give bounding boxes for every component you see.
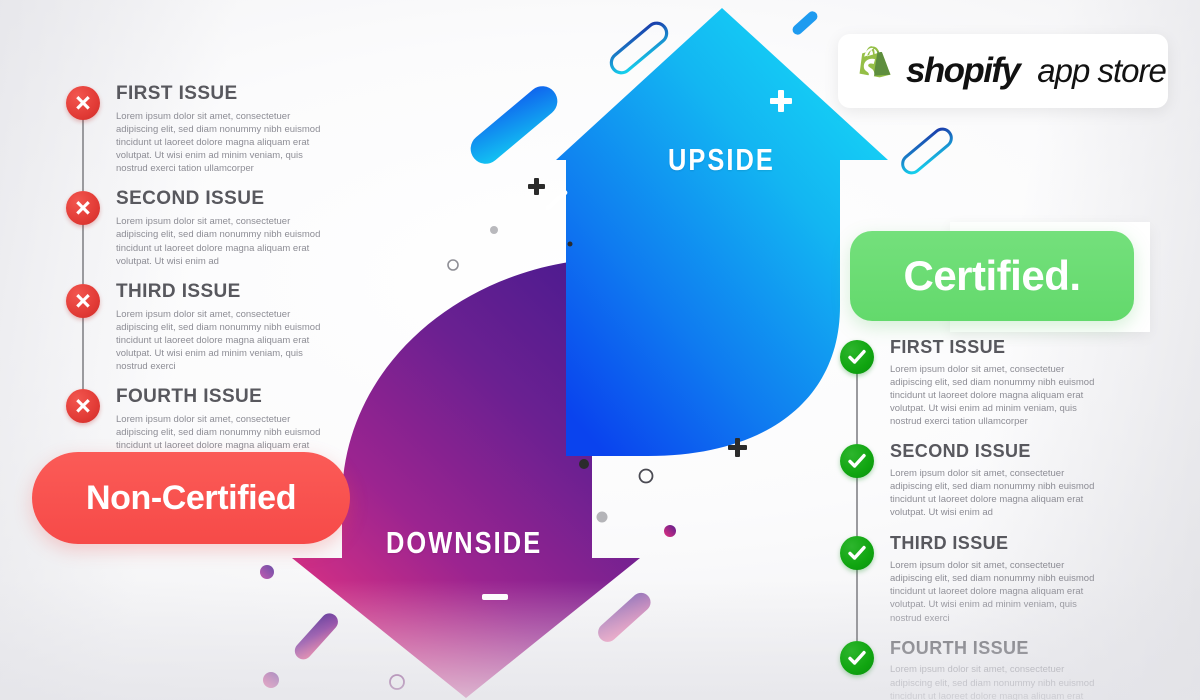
list-item[interactable]: THIRD ISSUE Lorem ipsum dolor sit amet, …	[66, 282, 366, 373]
shopify-wordmark: shopify	[906, 51, 1019, 91]
item-body: Lorem ipsum dolor sit amet, consectetuer…	[116, 215, 334, 267]
item-title: FIRST ISSUE	[890, 338, 1110, 358]
list-item[interactable]: SECOND ISSUE Lorem ipsum dolor sit amet,…	[840, 442, 1110, 520]
deco-dot-black-1	[568, 242, 573, 247]
minus-sign-icon	[482, 594, 508, 600]
shopify-bag-icon	[852, 46, 896, 96]
list-connector-line	[856, 368, 858, 444]
item-title: FOURTH ISSUE	[116, 387, 366, 408]
non-certified-badge[interactable]: Non-Certified	[32, 452, 350, 544]
list-item[interactable]: FIRST ISSUE Lorem ipsum dolor sit amet, …	[840, 338, 1110, 428]
deco-dot-purple	[260, 565, 274, 579]
deco-dot-pink	[263, 672, 279, 688]
check-circle-icon	[840, 444, 874, 478]
list-item[interactable]: FIRST ISSUE Lorem ipsum dolor sit amet, …	[66, 84, 366, 175]
cross-circle-icon	[66, 389, 100, 423]
cross-circle-icon	[66, 284, 100, 318]
non-certified-issue-list: FIRST ISSUE Lorem ipsum dolor sit amet, …	[66, 84, 366, 480]
item-body: Lorem ipsum dolor sit amet, consectetuer…	[116, 308, 334, 374]
item-body: Lorem ipsum dolor sit amet, consectetuer…	[890, 663, 1100, 700]
shopify-app-store-logo[interactable]: shopify app store	[838, 34, 1168, 108]
app-store-wordmark: app store	[1037, 52, 1166, 90]
deco-ring-3	[390, 675, 404, 689]
certified-benefit-list: FIRST ISSUE Lorem ipsum dolor sit amet, …	[840, 338, 1110, 700]
check-circle-icon	[840, 641, 874, 675]
item-title: SECOND ISSUE	[116, 189, 366, 210]
deco-ring-2	[640, 470, 653, 483]
deco-plus-1	[528, 178, 545, 195]
list-item[interactable]: FOURTH ISSUE Lorem ipsum dolor sit amet,…	[840, 639, 1110, 700]
list-connector-line	[82, 114, 84, 191]
up-arrow-label: UPSIDE	[668, 142, 775, 178]
list-connector-line	[856, 472, 858, 536]
item-title: FIRST ISSUE	[116, 84, 366, 105]
deco-dot-gray-1	[490, 226, 498, 234]
down-arrow-label: DOWNSIDE	[386, 525, 542, 561]
certified-badge[interactable]: Certified.	[850, 231, 1134, 321]
check-circle-icon	[840, 340, 874, 374]
list-item[interactable]: SECOND ISSUE Lorem ipsum dolor sit amet,…	[66, 189, 366, 267]
check-circle-icon	[840, 536, 874, 570]
item-body: Lorem ipsum dolor sit amet, consectetuer…	[890, 467, 1100, 519]
list-connector-line	[82, 219, 84, 283]
list-connector-line	[856, 564, 858, 640]
deco-capsule-pink	[594, 589, 654, 646]
cross-circle-icon	[66, 86, 100, 120]
deco-dot-black-2	[579, 459, 589, 469]
list-item[interactable]: THIRD ISSUE Lorem ipsum dolor sit amet, …	[840, 534, 1110, 624]
item-title: FOURTH ISSUE	[890, 639, 1110, 659]
deco-dot-gray-2	[597, 512, 608, 523]
cross-circle-icon	[66, 191, 100, 225]
deco-slash-blue	[791, 9, 820, 37]
deco-dot-magenta	[664, 525, 676, 537]
item-body: Lorem ipsum dolor sit amet, consectetuer…	[890, 363, 1100, 429]
item-body: Lorem ipsum dolor sit amet, consectetuer…	[890, 559, 1100, 625]
item-body: Lorem ipsum dolor sit amet, consectetuer…	[116, 110, 334, 176]
infographic-canvas: UPSIDE DOWNSIDE shopify app store Certif…	[0, 0, 1200, 700]
deco-capsule-blue	[465, 80, 564, 170]
item-title: THIRD ISSUE	[890, 534, 1110, 554]
item-title: THIRD ISSUE	[116, 282, 366, 303]
deco-capsule-purple	[291, 610, 341, 663]
deco-capsule-outline-2	[899, 125, 955, 176]
list-connector-line	[82, 312, 84, 389]
plus-sign-icon	[770, 90, 792, 112]
deco-slash-white	[544, 189, 568, 211]
deco-ring-1	[448, 260, 458, 270]
item-title: SECOND ISSUE	[890, 442, 1110, 462]
